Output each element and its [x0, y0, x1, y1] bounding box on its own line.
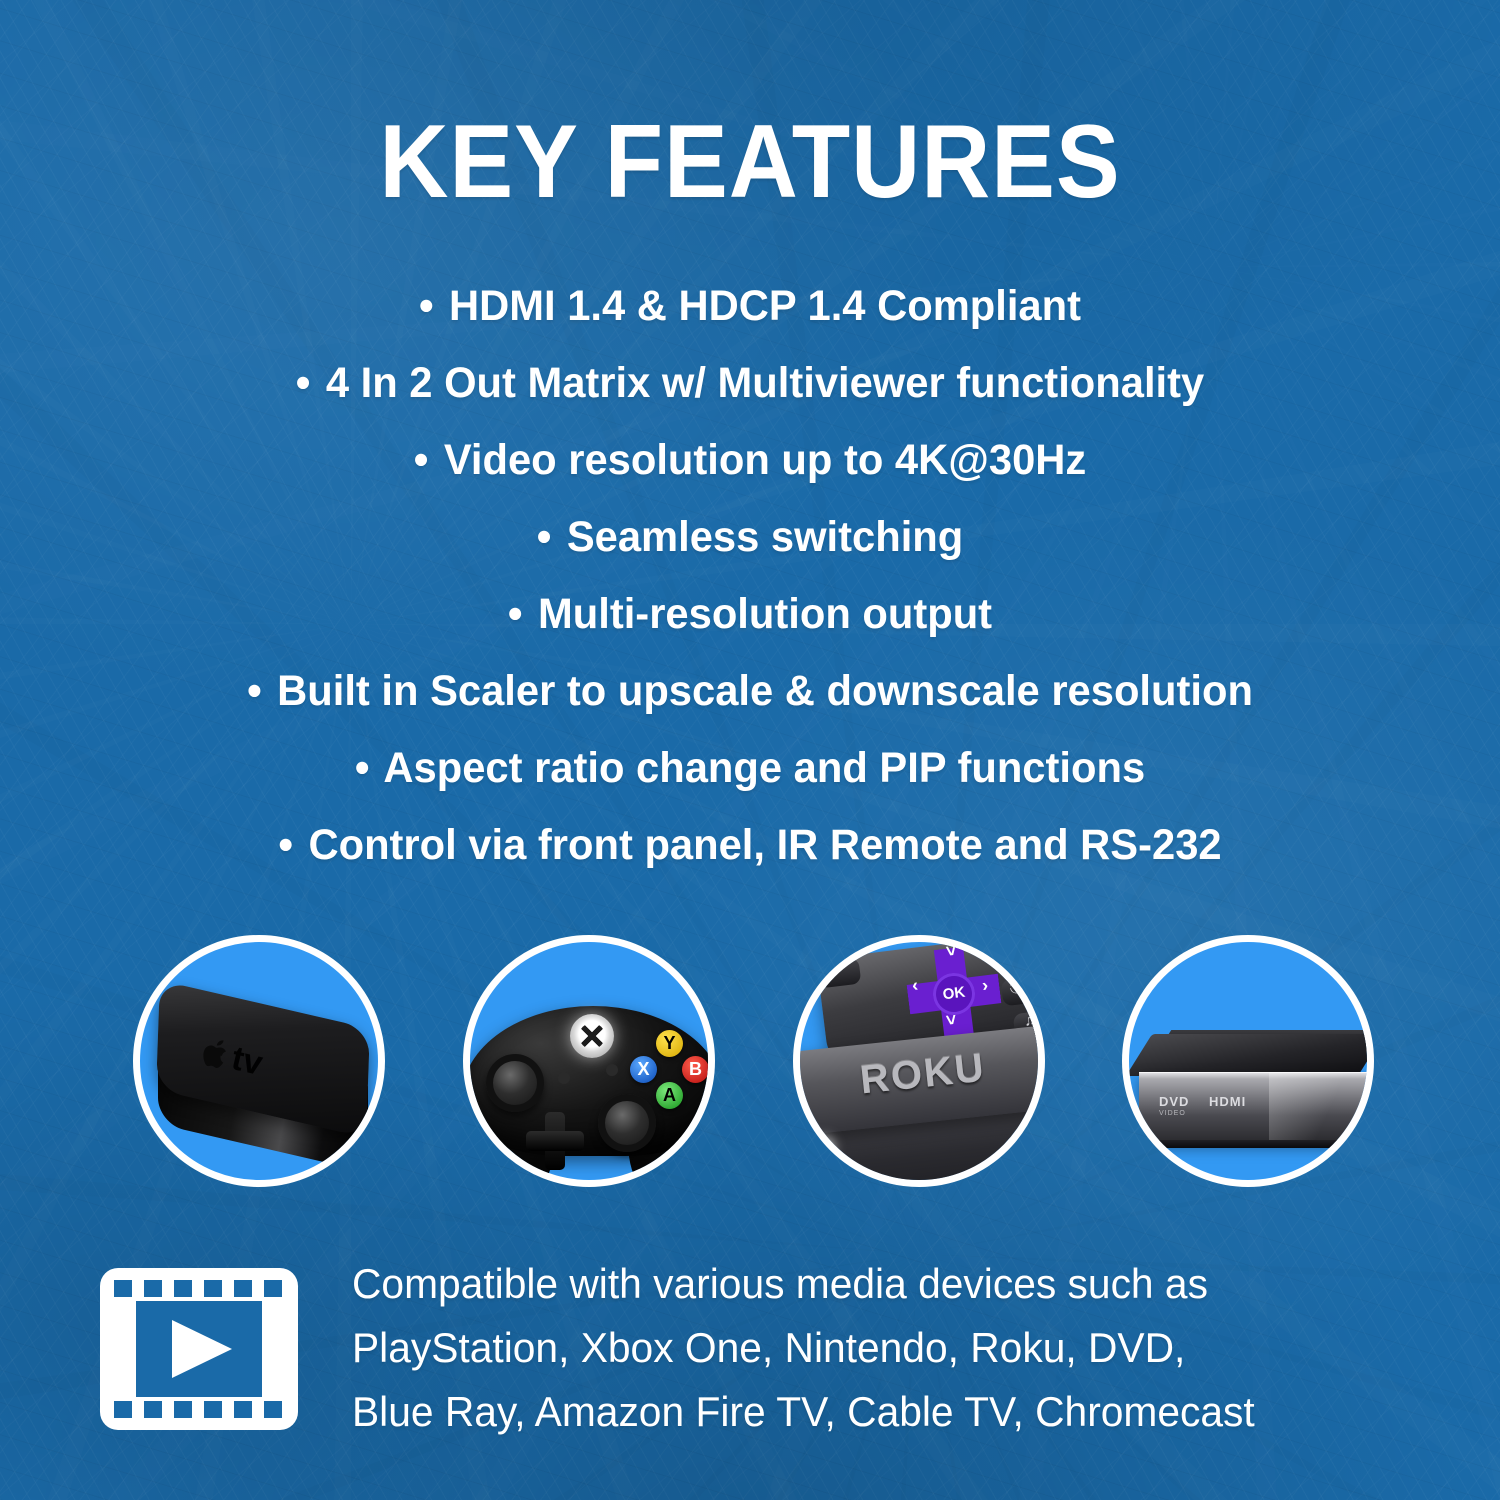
bullet-icon: •	[278, 821, 296, 869]
feature-item: • HDMI 1.4 & HDCP 1.4 Compliant	[61, 268, 1438, 345]
hdmi-label: HDMI	[1209, 1094, 1246, 1109]
bullet-icon: •	[414, 436, 432, 484]
feature-list: • HDMI 1.4 & HDCP 1.4 Compliant • 4 In 2…	[40, 268, 1460, 884]
feature-item-label: Seamless switching	[567, 513, 963, 561]
xbox-view-button	[558, 1072, 570, 1084]
xbox-left-stick	[486, 1054, 544, 1112]
compatibility-caption: Compatible with various media devices su…	[352, 1252, 1419, 1444]
bullet-icon: •	[419, 282, 437, 330]
feature-item: • Built in Scaler to upscale & downscale…	[61, 653, 1438, 730]
dvd-player-icon: DVD VIDEO HDMI	[1129, 942, 1367, 1180]
feature-item: • Control via front panel, IR Remote and…	[61, 807, 1438, 884]
xbox-controller-icon: Y B X A	[470, 942, 708, 1180]
xbox-button-x: X	[630, 1056, 657, 1083]
feature-item: • Seamless switching	[61, 499, 1438, 576]
bullet-icon: •	[508, 590, 526, 638]
chevron-up-icon: ˅	[945, 940, 958, 962]
xbox-logo-icon	[570, 1014, 614, 1058]
device-badge-dvd-player: DVD VIDEO HDMI	[1122, 935, 1374, 1187]
key-features-poster: KEY FEATURES • HDMI 1.4 & HDCP 1.4 Compl…	[0, 0, 1500, 1500]
feature-item: • 4 In 2 Out Matrix w/ Multiviewer funct…	[61, 345, 1438, 422]
dvd-player-base	[1145, 1140, 1373, 1148]
footer: Compatible with various media devices su…	[0, 1252, 1500, 1452]
feature-item-label: Multi-resolution output	[538, 590, 992, 638]
bullet-icon: •	[296, 359, 314, 407]
apple-tv-icon: tv	[140, 942, 378, 1180]
caption-line: PlayStation, Xbox One, Nintendo, Roku, D…	[352, 1316, 1419, 1380]
roku-icon: ⎋ ♫ ˅ ˅ ‹ › OK ROKU	[800, 942, 1038, 1180]
feature-item-label: HDMI 1.4 & HDCP 1.4 Compliant	[449, 282, 1081, 330]
roku-back-button	[817, 958, 862, 989]
film-strip-play-icon	[100, 1268, 298, 1430]
page-title: KEY FEATURES	[60, 110, 1440, 214]
bullet-icon: •	[355, 744, 373, 792]
roku-status-led	[818, 1142, 829, 1153]
feature-item-label: Built in Scaler to upscale & downscale r…	[277, 667, 1253, 715]
device-badge-row: tv Y B X A	[0, 935, 1500, 1200]
xbox-right-stick	[598, 1094, 656, 1152]
feature-item-label: Video resolution up to 4K@30Hz	[444, 436, 1086, 484]
dvd-player-gloss	[1269, 1072, 1374, 1142]
dvd-label: DVD	[1159, 1094, 1189, 1109]
feature-item-label: Control via front panel, IR Remote and R…	[308, 821, 1221, 869]
dvd-player-top	[1126, 1034, 1374, 1076]
xbox-button-y: Y	[656, 1030, 683, 1057]
xbox-dpad	[526, 1112, 584, 1170]
feature-item-label: Aspect ratio change and PIP functions	[383, 744, 1145, 792]
feature-item: • Video resolution up to 4K@30Hz	[61, 422, 1438, 499]
dvd-sub-label: VIDEO	[1159, 1110, 1186, 1117]
caption-line: Blue Ray, Amazon Fire TV, Cable TV, Chro…	[352, 1380, 1419, 1444]
feature-item: • Multi-resolution output	[61, 576, 1438, 653]
feature-item: • Aspect ratio change and PIP functions	[61, 730, 1438, 807]
device-badge-xbox-controller: Y B X A	[463, 935, 715, 1187]
xbox-button-a: A	[656, 1082, 683, 1109]
caption-line: Compatible with various media devices su…	[352, 1252, 1419, 1316]
xbox-menu-button	[606, 1064, 618, 1076]
device-badge-apple-tv: tv	[133, 935, 385, 1187]
bullet-icon: •	[537, 513, 555, 561]
feature-item-label: 4 In 2 Out Matrix w/ Multiviewer functio…	[326, 359, 1204, 407]
xbox-button-b: B	[682, 1056, 709, 1083]
device-badge-roku: ⎋ ♫ ˅ ˅ ‹ › OK ROKU	[793, 935, 1045, 1187]
headphone-icon: ⎋	[1009, 979, 1024, 998]
bullet-icon: •	[247, 667, 265, 715]
